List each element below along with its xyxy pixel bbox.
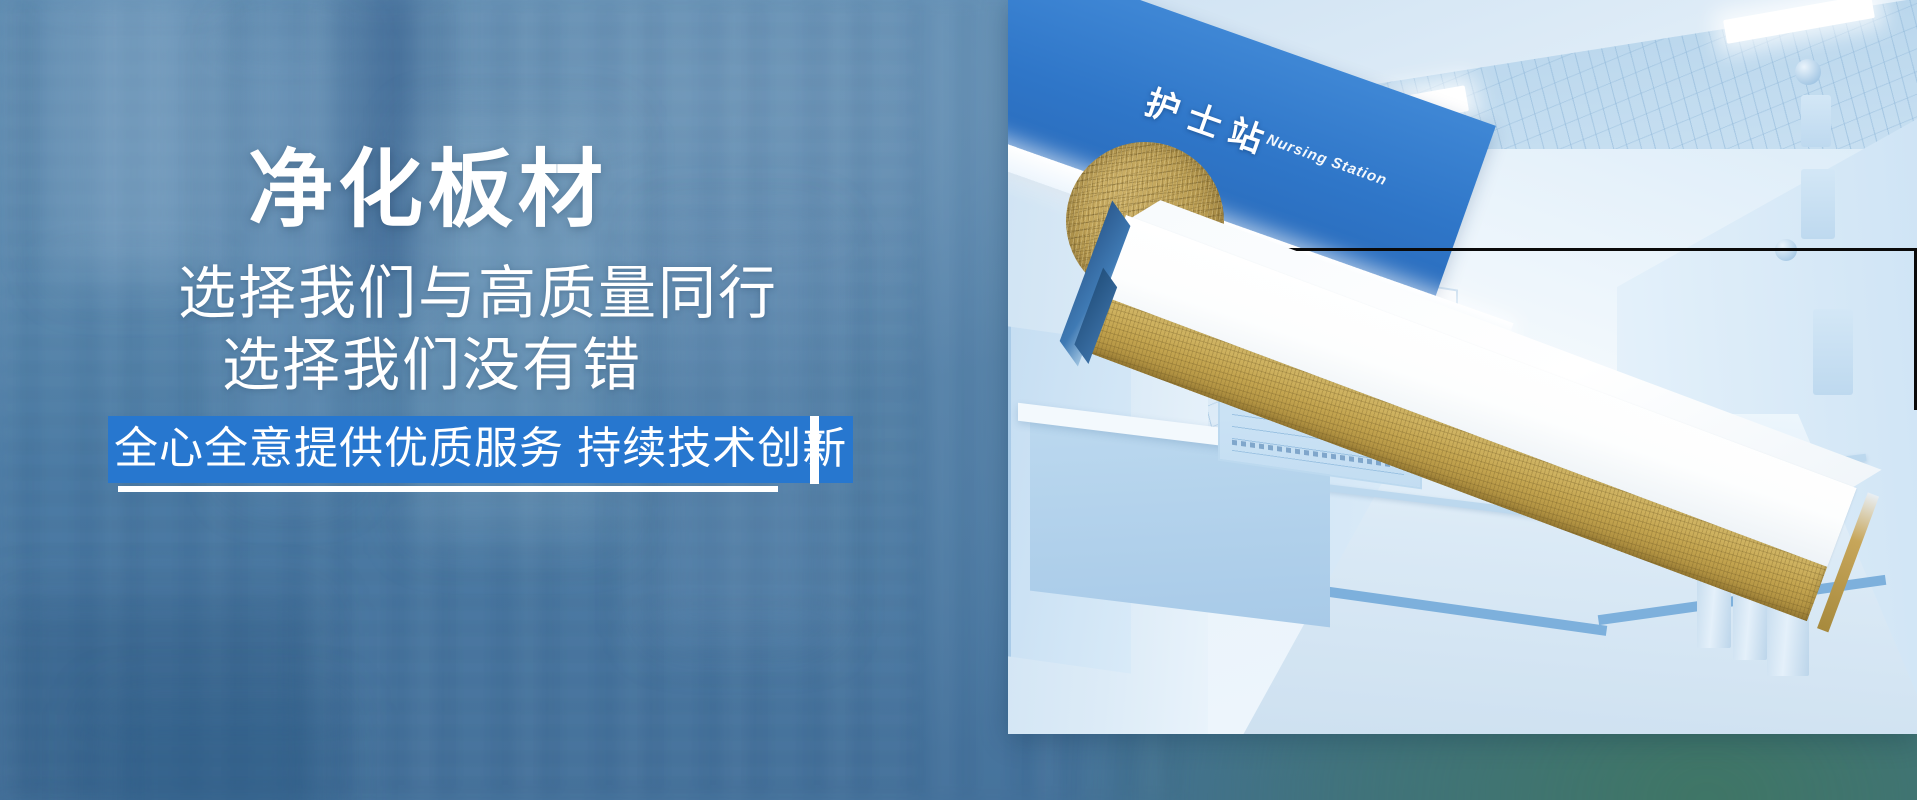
tagline-container: 全心全意提供优质服务 持续技术创新 [108,416,818,483]
subtitle-line-1: 选择我们与高质量同行 [178,265,778,323]
page-title: 净化板材 [248,148,608,233]
tagline-caret-marker [810,416,819,484]
ceiling-dome-camera-icon [1795,59,1821,85]
wall-fixture [1801,95,1831,147]
tagline-underline [118,486,778,492]
promotional-banner: 净化板材 选择我们与高质量同行 选择我们没有错 全心全意提供优质服务 持续技术创… [0,0,1917,800]
wall-fixture [1801,169,1835,239]
tagline-highlight-bar: 全心全意提供优质服务 持续技术创新 [108,416,853,483]
hospital-corridor-photo: 考勤表 护士站 Nursing Station [1008,0,1917,734]
wall-fixture [1813,309,1853,395]
banner-text-block: 净化板材 选择我们与高质量同行 选择我们没有错 全心全意提供优质服务 持续技术创… [0,0,830,800]
subtitle-line-2: 选择我们没有错 [222,337,642,395]
callout-leader-line-horizontal [1266,248,1917,251]
